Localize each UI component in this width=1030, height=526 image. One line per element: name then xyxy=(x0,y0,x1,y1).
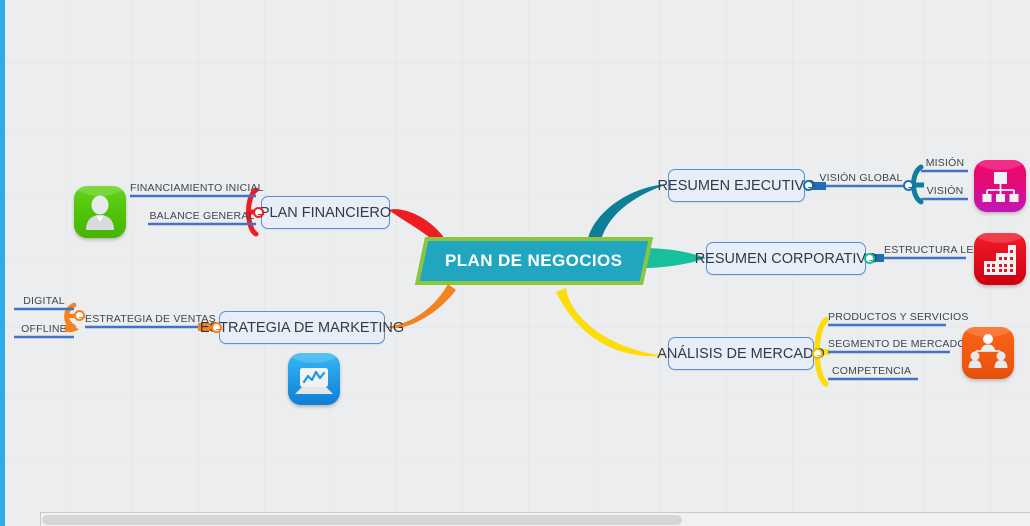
leaf-financiamiento-inicial[interactable]: FINANCIAMIENTO INICIAL xyxy=(130,182,256,197)
leaf-estrategia-de-ventas[interactable]: ESTRATEGIA DE VENTAS xyxy=(85,313,215,328)
node-resumen-corporativo[interactable]: RESUMEN CORPORATIVO xyxy=(706,242,866,275)
connector-dot-estrategia-ventas[interactable] xyxy=(74,310,85,321)
laptop-chart-icon[interactable] xyxy=(288,353,340,405)
connector-dot-vision-global[interactable] xyxy=(903,180,914,191)
branch-analisis-mercado xyxy=(556,288,666,356)
leaf-digital[interactable]: DIGITAL xyxy=(14,295,74,310)
leaf-vision[interactable]: VISIÓN xyxy=(921,185,969,200)
leaf-offline[interactable]: OFFLINE xyxy=(14,323,74,338)
node-analisis-mercado-label: ANÁLISIS DE MERCADO xyxy=(657,346,825,362)
central-node[interactable]: PLAN DE NEGOCIOS xyxy=(415,237,653,285)
leaf-vision-global[interactable]: VISIÓN GLOBAL xyxy=(818,172,904,187)
leaf-productos-y-servicios[interactable]: PRODUCTOS Y SERVICIOS xyxy=(828,311,946,326)
node-estrategia-marketing[interactable]: ESTRATEGIA DE MARKETING xyxy=(219,311,385,344)
node-estrategia-marketing-label: ESTRATEGIA DE MARKETING xyxy=(200,320,404,336)
leaf-mision[interactable]: MISIÓN xyxy=(921,157,969,172)
mindmap-canvas[interactable]: PLAN DE NEGOCIOS PLAN FINANCIERO ESTRATE… xyxy=(0,0,1030,526)
connector-dot-resumen-corporativo[interactable] xyxy=(864,253,875,264)
leaf-balance-general[interactable]: BALANCE GENERAL xyxy=(148,210,256,225)
leaf-estructura-legal[interactable]: ESTRUCTURA LEGAL xyxy=(884,244,980,259)
leaf-segmento-de-mercado[interactable]: SEGMENTO DE MERCADO xyxy=(828,338,950,353)
node-analisis-mercado[interactable]: ANÁLISIS DE MERCADO xyxy=(668,337,814,370)
connector-dot-plan-financiero[interactable] xyxy=(253,207,264,218)
leaf-competencia[interactable]: COMPETENCIA xyxy=(832,365,916,380)
horizontal-scrollbar-thumb[interactable] xyxy=(42,515,682,525)
central-node-label: PLAN DE NEGOCIOS xyxy=(445,251,622,271)
connector-dot-resumen-ejecutivo[interactable] xyxy=(803,180,814,191)
connector-dot-estrategia-marketing[interactable] xyxy=(211,322,222,333)
horizontal-scrollbar[interactable] xyxy=(40,512,1030,526)
factory-icon[interactable] xyxy=(974,233,1026,285)
node-plan-financiero[interactable]: PLAN FINANCIERO xyxy=(261,196,390,229)
node-resumen-ejecutivo[interactable]: RESUMEN EJECUTIVO xyxy=(668,169,805,202)
scrollbar-corner xyxy=(5,512,40,526)
node-resumen-ejecutivo-label: RESUMEN EJECUTIVO xyxy=(658,178,816,194)
node-resumen-corporativo-label: RESUMEN CORPORATIVO xyxy=(695,251,878,267)
team-hierarchy-icon[interactable] xyxy=(962,327,1014,379)
businessman-icon[interactable] xyxy=(74,186,126,238)
branch-resumen-ejecutivo xyxy=(588,184,668,244)
org-chart-icon[interactable] xyxy=(974,160,1026,212)
connector-dot-analisis-mercado[interactable] xyxy=(812,348,823,359)
node-plan-financiero-label: PLAN FINANCIERO xyxy=(260,205,391,221)
